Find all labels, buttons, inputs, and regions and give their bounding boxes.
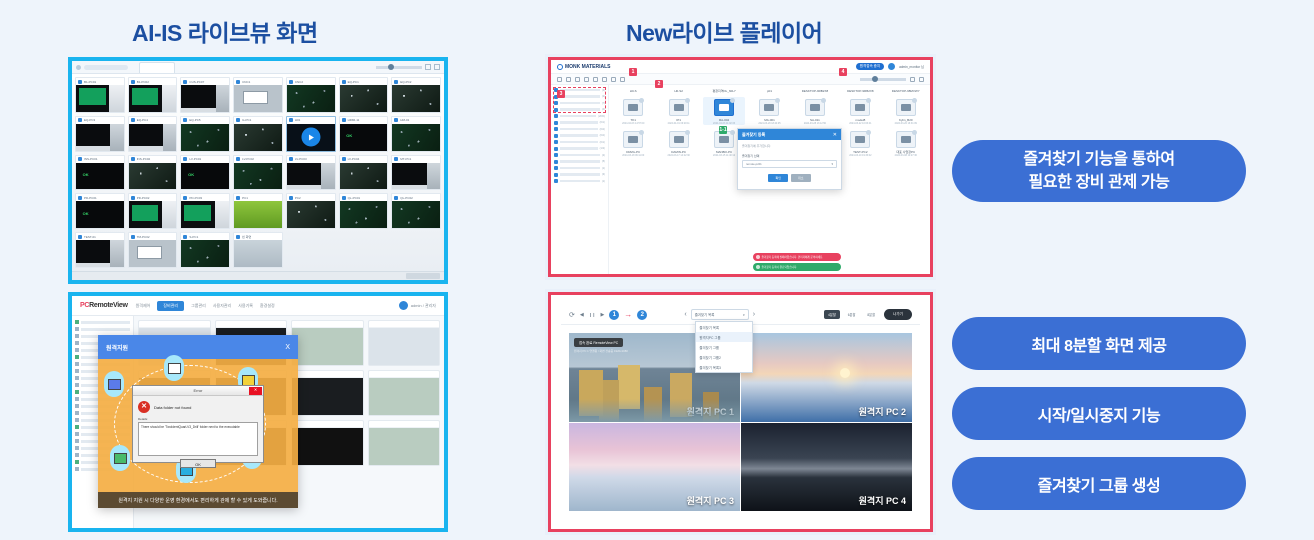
exit-button[interactable]: 나가기	[884, 309, 912, 320]
pause-icon[interactable]: ❙❙	[589, 312, 596, 317]
status-badge	[775, 98, 780, 103]
status-icon	[236, 235, 240, 239]
device-group-item[interactable]: (1)	[554, 179, 605, 183]
device-item[interactable]: TK1 2024-04-03 14:57:00	[612, 97, 654, 125]
device-header: MONK MATERIALS 원격접속 중지 admin_monitor 님	[551, 60, 930, 74]
dropdown-item[interactable]: 즐겨찾기 목록3	[696, 362, 752, 372]
settings-icon[interactable]	[602, 77, 607, 82]
liveview-cell-label: HM-01	[400, 118, 409, 122]
device-group-item[interactable]: (4)	[554, 108, 605, 112]
marker-badge: 1	[629, 68, 637, 76]
liveview-cell-label: EQ-PC3	[84, 118, 95, 122]
company-logo: MONK MATERIALS	[557, 64, 610, 70]
avatar	[399, 301, 408, 310]
delete-icon[interactable]	[620, 77, 625, 82]
prev-icon[interactable]: ◀	[580, 312, 584, 318]
liveview-cell-label: HDMI-11	[348, 118, 360, 122]
tab-liveview[interactable]	[139, 62, 175, 73]
liveview-cell[interactable]: HM-01	[391, 116, 441, 152]
thumbnail-image	[234, 163, 282, 190]
liveview-cell-caption: B1-PC01	[76, 78, 124, 85]
liveview-cell[interactable]: EQ-PC1	[339, 77, 389, 113]
status-badge	[730, 130, 735, 135]
folder-icon	[554, 127, 558, 131]
liveview-cell-caption: PC1	[234, 194, 282, 201]
liveview-cell[interactable]: LV-PC01 OK	[180, 155, 230, 191]
status-badge	[685, 98, 690, 103]
status-badge	[912, 130, 917, 135]
dropdown-item[interactable]: 즐겨찾기 그룹	[696, 342, 752, 352]
dialog-buttons: 확인 취소	[742, 174, 837, 182]
status-icon	[131, 157, 135, 161]
liveview-cell-caption: QL-PC01	[340, 194, 388, 201]
device-card[interactable]	[368, 370, 441, 416]
avatar	[888, 63, 895, 70]
group-count: (0/1)	[600, 141, 605, 144]
device-status: 2024-03-17 14:22:30	[657, 154, 699, 157]
liveview-cell[interactable]: S-PC1	[180, 232, 230, 268]
dropdown-item[interactable]: 즐겨찾기 그룹2	[696, 352, 752, 362]
dashboard-nav-item[interactable]: 원격제어	[136, 303, 151, 309]
status-icon	[131, 196, 135, 200]
device-column-header: DESKTOP-98MVWY	[885, 89, 927, 93]
dashboard-nav-item[interactable]: 사용자관리	[213, 303, 231, 309]
session-badge[interactable]: 원격접속 중지	[856, 63, 884, 70]
liveview-cell[interactable]: EQ-PC3	[75, 116, 125, 152]
close-icon[interactable]: ✕	[833, 132, 837, 138]
liveview-cell-caption: H01	[287, 117, 335, 124]
liveview-cell-label: EQ-PC5	[189, 118, 200, 122]
group-bar	[560, 115, 596, 118]
search-input[interactable]	[84, 65, 128, 70]
thumbnail-image	[129, 163, 177, 190]
dialog-body: 즐겨찾기에 추가합니다. 즐겨찾기 선택 remote-pc01 ▾ 확인 취소	[738, 140, 841, 186]
liveview-cell-caption: LV-PC01	[181, 156, 229, 163]
liveview-cell[interactable]: QL-PC02	[391, 193, 441, 229]
player-video-cell[interactable]: 원격지 PC 4	[741, 423, 912, 512]
liveview-cell[interactable]: INS-PC02	[128, 155, 178, 191]
monitor-icon	[108, 379, 121, 390]
search-icon[interactable]	[919, 77, 924, 82]
remoteview-logo: PCRemoteView	[80, 302, 128, 309]
alert-toast: 즐겨찾기 등록에 실패하였습니다. 관리자에게 문의하세요.	[753, 253, 841, 261]
group-count: (2)	[602, 95, 605, 98]
device-card-preview	[292, 328, 363, 365]
device-item[interactable]: SA-011 2024-03-28 13:12:50	[794, 97, 836, 125]
close-icon[interactable]: X	[285, 344, 290, 351]
dropdown-item[interactable]: 원격지PC 그룹	[696, 332, 752, 342]
status-icon	[78, 80, 82, 84]
error-details-label: Details:	[138, 417, 258, 421]
header-label: DESKTOP-9RB2X8	[794, 89, 836, 93]
ok-button[interactable]: OK	[180, 459, 216, 468]
device-item[interactable]: IP1 2024-04-01 09:20:11	[657, 97, 699, 125]
device-card-header	[216, 321, 287, 328]
group-count: (7)	[602, 102, 605, 105]
layout-icon[interactable]	[910, 77, 915, 82]
liveview-cell-caption: EQ-PC5	[181, 117, 229, 124]
header-label: 평창지역DL_60L7	[703, 89, 745, 93]
refresh-icon[interactable]	[557, 77, 562, 82]
player-cell-label: 원격지 PC 4	[859, 494, 906, 507]
status-badge	[685, 130, 690, 135]
zoom-slider[interactable]	[860, 78, 906, 81]
chevron-down-icon: ▾	[743, 313, 745, 317]
liveview-cell-label: LV-PC03	[295, 157, 307, 161]
footer-button[interactable]	[406, 273, 440, 279]
device-row: TK1 2024-04-03 14:57:00 IP1 2024-04-01 0…	[612, 97, 927, 125]
thumbnail-image	[234, 85, 282, 112]
logo-mark-icon	[557, 64, 563, 70]
folder-icon	[75, 432, 79, 436]
device-item[interactable]: MA-001 2024-03-29 18:44:05	[748, 97, 790, 125]
header-label: p01	[748, 89, 790, 93]
folder-icon	[75, 404, 79, 408]
liveview-cell-label: QL-PC02	[400, 196, 413, 200]
device-item[interactable]: RA-002 2024-04-03 11:02:33	[703, 97, 745, 125]
device-card[interactable]	[291, 370, 364, 416]
thumbnail-image	[181, 201, 229, 228]
liveview-cell-label: 빈 화면	[242, 235, 251, 239]
device-status: 2024-03-10 19:33:02	[839, 154, 881, 157]
copy-icon[interactable]	[611, 77, 616, 82]
monitor-icon	[896, 99, 916, 116]
liveview-cell[interactable]: PD-PC01 OK	[75, 193, 125, 229]
device-card[interactable]	[291, 320, 364, 366]
thumbnail-image	[340, 201, 388, 228]
selected-value: remote-pc01	[746, 162, 762, 166]
liveview-cell-caption: MT-PC1	[392, 156, 440, 163]
liveview-cell[interactable]: INS-PC01 OK	[75, 155, 125, 191]
liveview-cell-label: PC1	[242, 196, 248, 200]
liveview-cell-caption: EQ-PC2	[392, 78, 440, 85]
device-group-item[interactable]: (5)	[554, 160, 605, 164]
play-icon[interactable]: ▶	[600, 312, 604, 318]
thumbnail-image	[392, 124, 440, 151]
device-card-preview	[369, 328, 440, 365]
device-group-item[interactable]: (0/1)	[554, 140, 605, 144]
modal-titlebar: 원격지원 X	[98, 335, 298, 359]
status-icon	[131, 118, 135, 122]
player-video-cell[interactable]: 원격지 PC 3	[569, 423, 740, 512]
device-group-item[interactable]: (0/1)	[554, 121, 605, 125]
liveview-cell-label: CNC1	[242, 80, 250, 84]
logo-text: RemoteView	[89, 302, 128, 309]
liveview-cell[interactable]: CNC2	[286, 77, 336, 113]
connection-detail: 원격지 PC 1 연결됨 / 화면 전송중 1920x1080	[574, 349, 628, 353]
liveview-cell[interactable]: TEST-01	[75, 232, 125, 268]
thumbnail-image	[234, 201, 282, 228]
sidebar-item[interactable]	[75, 320, 130, 324]
sidebar-item-label	[81, 328, 130, 331]
alert-icon	[756, 255, 760, 259]
group-count: (1)	[602, 167, 605, 170]
liveview-cell[interactable]: CNC1	[233, 77, 283, 113]
dashboard-nav-item[interactable]: 그룹관리	[191, 303, 206, 309]
liveview-cell[interactable]: LV-PC03	[286, 155, 336, 191]
zoom-slider[interactable]	[376, 66, 422, 69]
dashboard-nav-item[interactable]: 사용기록	[238, 303, 253, 309]
pill-line-1: 즐겨찾기 그룹 생성	[1038, 472, 1161, 496]
player-mode-button[interactable]: 8분할	[863, 310, 879, 319]
device-column-header: DESKTOP-9RB2X8	[794, 89, 836, 93]
device-item[interactable]: DM2G-PC 2024-03-18 09:11:00	[612, 129, 654, 157]
liveview-cell-label: EQ-PC2	[400, 80, 411, 84]
liveview-cell-label: PC2	[295, 196, 301, 200]
device-group-item[interactable]: (1/3)	[554, 147, 605, 151]
dashboard-header: PCRemoteView 원격제어장비관리그룹관리사용자관리사용기록환경설정 a…	[72, 296, 444, 316]
star-icon[interactable]	[584, 77, 589, 82]
page-title-right: New라이브 플레이어	[626, 14, 822, 48]
monitor-icon	[850, 131, 870, 148]
device-group-item[interactable]: (7)	[554, 101, 605, 105]
device-group-item[interactable]: (1)	[554, 166, 605, 170]
device-item[interactable]: TEST-PC2 2024-03-10 19:33:02	[839, 129, 881, 157]
device-card-header	[369, 421, 440, 428]
folder-icon	[75, 411, 79, 415]
group-bar	[560, 180, 600, 183]
header-label: H0-S2	[657, 89, 699, 93]
liveview-cell-label: INS-PC02	[137, 157, 151, 161]
liveview-thumbnail-grid: B1-PC01 B1-PC02 CUS-PC07 CNC1 CNC2	[72, 74, 444, 271]
chevron-left-icon[interactable]: ‹	[684, 311, 686, 318]
folder-icon	[75, 383, 79, 387]
monitor-icon	[114, 453, 127, 464]
liveview-cell-label: TEST-01	[84, 235, 96, 239]
device-toolbar	[551, 74, 930, 85]
chevron-down-icon: ▾	[831, 162, 833, 166]
monitor-icon	[669, 99, 689, 116]
topology-node	[104, 371, 124, 397]
device-status: 2024-03-28 13:12:50	[794, 122, 836, 125]
liveview-cell[interactable]: EQ-PC4	[128, 116, 178, 152]
device-card-header	[292, 421, 363, 428]
topology-node	[110, 445, 130, 471]
device-status: 2024-04-01 09:20:11	[657, 122, 699, 125]
liveview-cell[interactable]: EQ-PC2	[391, 77, 441, 113]
connection-tag: 접속 완료 RemoteView PC	[574, 338, 623, 347]
group-count: (3)	[602, 173, 605, 176]
liveview-cell[interactable]: PC2	[286, 193, 336, 229]
device-card-header	[369, 371, 440, 378]
alert-toast: 즐겨찾기 등록이 완료되었습니다.	[753, 263, 841, 271]
status-icon	[131, 80, 135, 84]
thumbnail-image	[287, 201, 335, 228]
device-status: 2024-03-22 10:03:41	[839, 122, 881, 125]
dashboard-nav-item[interactable]: 장비관리	[157, 301, 184, 311]
folder-icon	[75, 418, 79, 422]
grid-icon[interactable]	[566, 77, 571, 82]
device-column-header: 평창지역DL_60L7	[703, 89, 745, 93]
status-icon	[342, 80, 346, 84]
liveview-cell-caption: EQ-PC1	[340, 78, 388, 85]
liveview-cell[interactable]: PD-PC03	[180, 193, 230, 229]
player-video-cell[interactable]: 원격지 PC 2	[741, 333, 912, 422]
feature-pill-favorites: 즐겨찾기 기능을 통하여 필요한 장비 관제 가능	[952, 140, 1246, 202]
thumbnail-image	[181, 85, 229, 112]
sidebar-item-label	[81, 321, 130, 324]
liveview-cell-caption: INS-PC01	[76, 156, 124, 163]
folder-icon	[75, 446, 79, 450]
thumbnail-image	[129, 201, 177, 228]
status-icon	[394, 157, 398, 161]
liveview-cell[interactable]: CUS-PC07	[180, 77, 230, 113]
liveview-cell-caption: PD-PC01	[76, 194, 124, 201]
liveview-cell[interactable]: TM-PC02	[128, 232, 178, 268]
status-icon	[236, 80, 240, 84]
chevron-right-icon[interactable]: ›	[753, 311, 755, 318]
remote-support-modal: 원격지원 X Error ✕ ✕ Data folder not found D…	[98, 335, 298, 508]
user-area[interactable]: admin / 관리자	[399, 301, 436, 310]
pill-line-1: 즐겨찾기 기능을 통하여	[1023, 148, 1174, 171]
folder-icon	[554, 140, 558, 144]
thumbnail-image	[340, 85, 388, 112]
liveview-cell[interactable]: QL-PC01	[339, 193, 389, 229]
liveview-cell-label: INS-PC01	[84, 157, 98, 161]
device-column-headers: H0-S H0-S2 평창지역DL_60L7 p01 DESKTOP-9RB2X…	[612, 89, 927, 93]
dashboard-nav-item[interactable]: 환경설정	[260, 303, 275, 309]
player-cell-label: 원격지 PC 3	[687, 494, 734, 507]
liveview-cell-caption: HM-01	[392, 117, 440, 124]
liveview-cell[interactable]: LV-PC02	[233, 155, 283, 191]
status-icon	[342, 196, 346, 200]
thumbnail-image	[76, 124, 124, 151]
device-card[interactable]	[291, 420, 364, 466]
liveview-cell-caption: CNC1	[234, 78, 282, 85]
fullscreen-icon[interactable]	[434, 64, 440, 70]
close-icon[interactable]: ✕	[249, 387, 262, 395]
device-group-item[interactable]: (3)	[554, 173, 605, 177]
group-select[interactable]: 즐겨찾기 목록 ▾	[691, 309, 749, 320]
liveview-cell[interactable]: H01	[286, 116, 336, 152]
group-count: (20%)	[598, 115, 605, 118]
device-item[interactable]: 대표 사업장PC 2024-03-08 10:27:36	[885, 129, 927, 157]
folder-icon	[75, 390, 79, 394]
liveview-cell[interactable]: LV-PC04	[339, 155, 389, 191]
error-details-text: There should be 'TwoIdentQuarLV3_Drill' …	[138, 422, 258, 456]
pill-line-2: 필요한 장비 관제 가능	[1028, 171, 1169, 194]
confirm-button[interactable]: 확인	[768, 174, 788, 182]
status-icon	[236, 196, 240, 200]
thumbnail-image	[181, 240, 229, 267]
liveview-cell[interactable]: 빈 화면	[233, 232, 283, 268]
monitor-icon	[242, 375, 255, 386]
liveview-cell-caption: PC2	[287, 194, 335, 201]
status-badge	[912, 98, 917, 103]
device-card-preview	[292, 378, 363, 415]
group-count: (1/3)	[600, 147, 605, 150]
cancel-button[interactable]: 취소	[791, 174, 811, 182]
folder-icon	[75, 425, 79, 429]
folder-icon	[554, 173, 558, 177]
device-card-header	[369, 321, 440, 328]
folder-icon[interactable]	[593, 77, 598, 82]
device-group-item[interactable]: (20%)	[554, 114, 605, 118]
liveview-cell[interactable]: B1-PC01	[75, 77, 125, 113]
status-icon	[183, 157, 187, 161]
liveview-cell-caption: G-PC1	[234, 117, 282, 124]
thumbnail-image: OK	[340, 124, 388, 151]
sidebar-item[interactable]	[75, 327, 130, 331]
group-bar	[560, 95, 600, 98]
folder-icon	[75, 320, 79, 324]
status-icon	[236, 118, 240, 122]
folder-icon	[75, 348, 79, 352]
folder-icon	[75, 439, 79, 443]
modal-caption: 원격지 지원 시 다양한 운영 환경에서도 편리하게 관제 할 수 있게 도와줍…	[98, 492, 298, 508]
status-badge	[821, 98, 826, 103]
refresh-icon[interactable]: ⟳	[569, 311, 575, 319]
folder-icon	[554, 166, 558, 170]
status-badge	[866, 130, 871, 135]
group-count: (1)	[602, 180, 605, 183]
liveview-cell[interactable]: PD-PC02	[128, 193, 178, 229]
group-count: (3)	[602, 89, 605, 92]
device-list-screenshot-panel: MONK MATERIALS 원격접속 중지 admin_monitor 님 (…	[548, 57, 933, 277]
liveview-cell[interactable]: MT-PC1	[391, 155, 441, 191]
search-icon[interactable]	[76, 65, 81, 70]
device-group-item[interactable]: (2)	[554, 153, 605, 157]
liveview-cell[interactable]: PC1	[233, 193, 283, 229]
field-label: 즐겨찾기 선택	[742, 154, 837, 158]
device-group-sidebar: (3) (2) (7) (4) (20%) (0/1) (0/2) (0/2)	[551, 85, 609, 274]
favorite-group-select[interactable]: remote-pc01 ▾	[742, 160, 837, 168]
pill-line-1: 시작/일시중지 기능	[1038, 402, 1161, 426]
device-item[interactable]: DAMIN-PC 2024-03-17 14:22:30	[657, 129, 699, 157]
device-card[interactable]	[368, 320, 441, 366]
device-group-item[interactable]: (0/2)	[554, 127, 605, 131]
liveview-cell-caption: EQ-PC4	[129, 117, 177, 124]
device-card-preview	[369, 378, 440, 415]
thumbnail-image: OK	[76, 201, 124, 228]
liveview-cell-caption: TM-PC02	[129, 233, 177, 240]
dropdown-item[interactable]: 즐겨찾기 목록	[696, 322, 752, 332]
status-icon	[342, 118, 346, 122]
liveview-cell[interactable]: G-PC1	[233, 116, 283, 152]
group-bar	[560, 147, 598, 150]
player-mode-button[interactable]: 4분할	[824, 310, 840, 319]
caption-text: 원격지 지원 시 다양한 운영 환경에서도 편리하게 관제 할 수 있게 도와줍…	[118, 497, 277, 504]
device-item[interactable]: Kylin_B20 2024-03-20 16:31:09	[885, 97, 927, 125]
device-item[interactable]: model8 2024-03-22 10:03:41	[839, 97, 881, 125]
liveview-cell-label: LV-PC04	[348, 157, 360, 161]
thumbnail-image	[392, 85, 440, 112]
folder-icon	[554, 160, 558, 164]
grid-layout-icon[interactable]	[425, 64, 431, 70]
liveview-cell[interactable]: EQ-PC5	[180, 116, 230, 152]
status-icon	[289, 157, 293, 161]
player-mode-button[interactable]: 6분할	[844, 310, 860, 319]
error-dialog-title: Error	[194, 388, 203, 393]
liveview-screenshot-panel: B1-PC01 B1-PC02 CUS-PC07 CNC1 CNC2	[68, 57, 448, 284]
thumbnail-image	[76, 240, 124, 267]
liveview-cell[interactable]: HDMI-11 OK	[339, 116, 389, 152]
device-card[interactable]	[368, 420, 441, 466]
device-column-header: p01	[748, 89, 790, 93]
monitor-icon	[805, 99, 825, 116]
feature-pill-group: 즐겨찾기 그룹 생성	[952, 457, 1246, 510]
monitor-icon	[850, 99, 870, 116]
group-bar	[560, 102, 600, 105]
liveview-cell[interactable]: B1-PC02	[128, 77, 178, 113]
monitor-icon	[896, 131, 916, 148]
liveview-cell-caption: LV-PC02	[234, 156, 282, 163]
list-icon[interactable]	[575, 77, 580, 82]
step-badge-1: 1	[609, 310, 619, 320]
status-badge	[639, 130, 644, 135]
device-group-item[interactable]: (0/2)	[554, 134, 605, 138]
folder-icon	[554, 134, 558, 138]
